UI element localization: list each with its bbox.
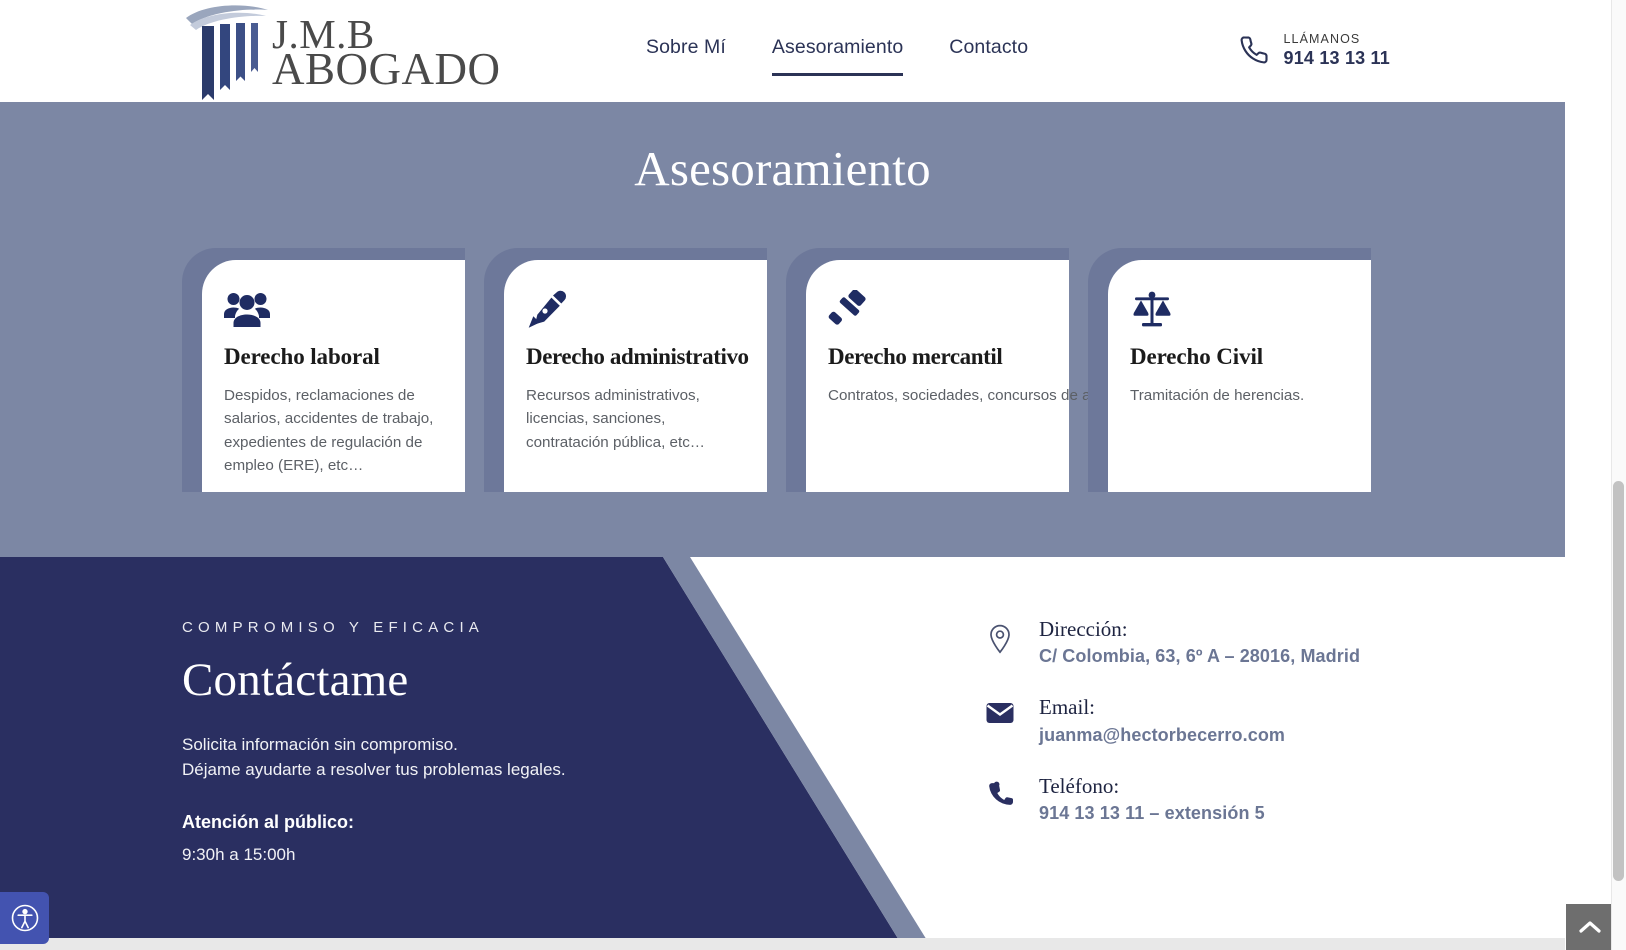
gavel-icon — [828, 290, 1045, 330]
service-card[interactable]: Derecho laboral Despidos, reclamaciones … — [182, 248, 465, 492]
services-section: Asesoramiento — [0, 102, 1565, 557]
contact-details-list: Dirección: C/ Colombia, 63, 6º A – 28016… — [985, 615, 1360, 850]
card-description: Tramitación de herencias. — [1130, 384, 1347, 407]
contact-line-2: Déjame ayudarte a resolver tus problemas… — [182, 757, 566, 782]
card-description: Despidos, reclamaciones de salarios, acc… — [224, 384, 441, 477]
service-card[interactable]: Derecho Civil Tramitación de herencias. — [1088, 248, 1371, 492]
card-description: Contratos, sociedades, concursos de acre… — [828, 384, 1045, 407]
detail-label: Email: — [1039, 693, 1285, 721]
scroll-to-top-button[interactable] — [1566, 904, 1614, 950]
logo-line-2: ABOGADO — [272, 51, 501, 89]
scales-of-justice-icon — [1130, 290, 1347, 330]
phone-icon — [985, 772, 1015, 807]
page-root: J.M.B ABOGADO Sobre Mí Asesoramiento Con… — [0, 0, 1626, 950]
logo-wordmark: J.M.B ABOGADO — [272, 17, 501, 89]
people-group-icon — [224, 290, 441, 330]
phone-icon — [1239, 35, 1269, 65]
fountain-pen-icon — [526, 290, 743, 330]
card-title: Derecho mercantil — [828, 344, 1045, 370]
card-title: Derecho laboral — [224, 344, 441, 370]
accessibility-person-icon — [10, 903, 40, 933]
detail-label: Dirección: — [1039, 615, 1360, 643]
chevron-up-icon — [1578, 919, 1602, 935]
card-body: Derecho administrativo Recursos administ… — [504, 260, 767, 492]
card-body: Derecho laboral Despidos, reclamaciones … — [202, 260, 465, 492]
contact-detail-phone[interactable]: Teléfono: 914 13 13 11 – extensión 5 — [985, 772, 1360, 824]
phone-number[interactable]: 914 13 13 11 — [1283, 48, 1390, 70]
browser-scrollbar-thumb[interactable] — [1613, 481, 1624, 881]
contact-detail-address: Dirección: C/ Colombia, 63, 6º A – 28016… — [985, 615, 1360, 667]
nav-item-contacto[interactable]: Contacto — [949, 36, 1028, 76]
site-header: J.M.B ABOGADO Sobre Mí Asesoramiento Con… — [0, 0, 1565, 102]
contact-heading: Contáctame — [182, 653, 566, 707]
nav-item-sobre-mi[interactable]: Sobre Mí — [646, 36, 726, 76]
detail-value[interactable]: juanma@hectorbecerro.com — [1039, 725, 1285, 746]
viewport-right-gutter — [1565, 0, 1611, 950]
contact-detail-text: Dirección: C/ Colombia, 63, 6º A – 28016… — [1039, 615, 1360, 667]
header-phone-block[interactable]: LLÁMANOS 914 13 13 11 — [1239, 31, 1390, 69]
service-card[interactable]: Derecho mercantil Contratos, sociedades,… — [786, 248, 1069, 492]
phone-label: LLÁMANOS — [1283, 31, 1390, 48]
service-card-list: Derecho laboral Despidos, reclamaciones … — [182, 248, 1371, 492]
contact-line-1: Solicita información sin compromiso. — [182, 732, 566, 757]
contact-section: COMPROMISO Y EFICACIA Contáctame Solicit… — [0, 557, 1565, 950]
phone-text-group: LLÁMANOS 914 13 13 11 — [1283, 31, 1390, 69]
contact-intro: COMPROMISO Y EFICACIA Contáctame Solicit… — [182, 619, 566, 865]
contact-eyebrow: COMPROMISO Y EFICACIA — [182, 619, 566, 636]
office-hours-value: 9:30h a 15:00h — [182, 845, 566, 865]
pillar-columns-icon — [182, 2, 274, 102]
card-title: Derecho Civil — [1130, 344, 1347, 370]
service-card[interactable]: Derecho administrativo Recursos administ… — [484, 248, 767, 492]
card-description: Recursos administrativos, licencias, san… — [526, 384, 743, 454]
accessibility-widget-button[interactable] — [0, 892, 49, 944]
contact-detail-text: Email: juanma@hectorbecerro.com — [1039, 693, 1285, 745]
card-body: Derecho mercantil Contratos, sociedades,… — [806, 260, 1069, 492]
page-title: Asesoramiento — [0, 140, 1565, 197]
page-bottom-strip — [0, 938, 1565, 950]
nav-item-asesoramiento[interactable]: Asesoramiento — [772, 36, 903, 76]
detail-value: C/ Colombia, 63, 6º A – 28016, Madrid — [1039, 646, 1360, 667]
office-hours-label: Atención al público: — [182, 812, 566, 833]
main-navigation: Sobre Mí Asesoramiento Contacto — [646, 36, 1028, 76]
detail-value[interactable]: 914 13 13 11 – extensión 5 — [1039, 803, 1265, 824]
site-logo[interactable]: J.M.B ABOGADO — [182, 2, 501, 102]
envelope-icon — [985, 693, 1015, 724]
contact-detail-text: Teléfono: 914 13 13 11 – extensión 5 — [1039, 772, 1265, 824]
contact-detail-email[interactable]: Email: juanma@hectorbecerro.com — [985, 693, 1360, 745]
detail-label: Teléfono: — [1039, 772, 1265, 800]
card-body: Derecho Civil Tramitación de herencias. — [1108, 260, 1371, 492]
map-pin-icon — [985, 615, 1015, 654]
card-title: Derecho administrativo — [526, 344, 743, 370]
